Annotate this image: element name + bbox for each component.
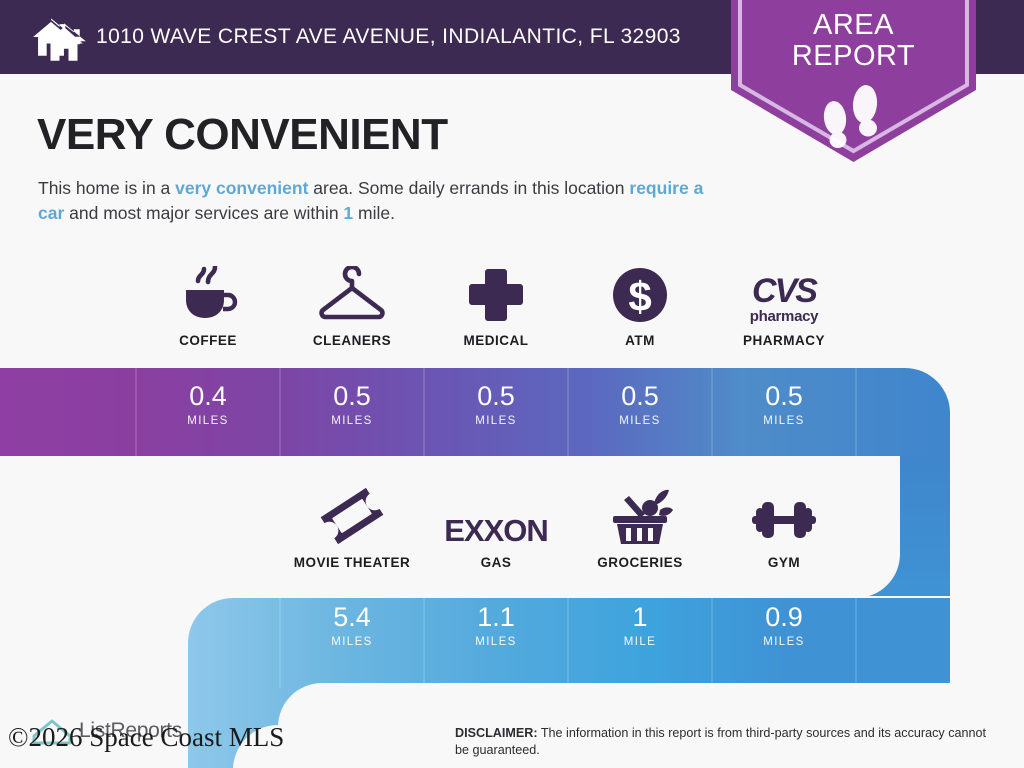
poi-coffee[interactable]: COFFEE [136, 262, 280, 348]
poi-groceries[interactable]: GROCERIES [568, 484, 712, 570]
disclaimer: DISCLAIMER: The information in this repo… [455, 725, 995, 759]
poi-gym[interactable]: GYM [712, 484, 856, 570]
subtitle-part-4: mile. [353, 203, 395, 223]
poi-pharmacy[interactable]: CVS pharmacy PHARMACY [712, 262, 856, 348]
exxon-wordmark: EXXON [444, 515, 548, 546]
poi-label: MOVIE THEATER [294, 555, 411, 570]
distance-value: 1 [568, 604, 712, 631]
poi-gas[interactable]: EXXON GAS [424, 484, 568, 570]
grocery-basket-icon [605, 484, 675, 546]
distance-unit: MILES [280, 636, 424, 648]
cvs-pharmacy-logo: CVS pharmacy [750, 262, 818, 324]
distance-unit: MILES [712, 415, 856, 427]
home-marker-icon [40, 18, 88, 66]
distance-groceries: 1 MILE [568, 604, 712, 648]
poi-label: PHARMACY [743, 333, 825, 348]
distance-unit: MILES [280, 415, 424, 427]
distance-unit: MILES [424, 636, 568, 648]
distance-unit: MILE [568, 636, 712, 648]
subtitle-part-2: area. Some daily errands in this locatio… [308, 178, 629, 198]
page-title: VERY CONVENIENT [37, 110, 448, 160]
cvs-subword: pharmacy [750, 309, 818, 324]
distance-movie-theater: 5.4 MILES [280, 604, 424, 648]
distance-cleaners: 0.5 MILES [280, 383, 424, 427]
poi-label: ATM [625, 333, 655, 348]
poi-atm[interactable]: $ ATM [568, 262, 712, 348]
disclaimer-label: DISCLAIMER: [455, 726, 538, 740]
subtitle-part-3: and most major services are within [64, 203, 343, 223]
property-address: 1010 WAVE CREST AVE AVENUE, INDIALANTIC,… [96, 25, 681, 49]
page-subtitle: This home is in a very convenient area. … [38, 176, 728, 227]
poi-label: CLEANERS [313, 333, 391, 348]
distance-value: 0.5 [280, 383, 424, 410]
badge-line-2: REPORT [792, 40, 915, 72]
svg-text:$: $ [628, 273, 651, 320]
poi-movie-theater[interactable]: MOVIE THEATER [280, 484, 424, 570]
exxon-logo: EXXON [444, 484, 548, 546]
poi-label: GYM [768, 555, 800, 570]
badge-label: AREA REPORT [731, 10, 976, 73]
distance-value: 0.5 [424, 383, 568, 410]
poi-label: MEDICAL [464, 333, 529, 348]
distance-value: 0.5 [712, 383, 856, 410]
distance-unit: MILES [424, 415, 568, 427]
distance-value: 1.1 [424, 604, 568, 631]
distance-gym: 0.9 MILES [712, 604, 856, 648]
badge-line-1: AREA [813, 9, 894, 41]
cvs-wordmark: CVS [750, 274, 818, 308]
distance-medical: 0.5 MILES [424, 383, 568, 427]
medical-cross-icon [466, 262, 526, 324]
poi-cleaners[interactable]: CLEANERS [280, 262, 424, 348]
area-report-infographic: 1010 WAVE CREST AVE AVENUE, INDIALANTIC,… [0, 0, 1024, 768]
distance-atm: 0.5 MILES [568, 383, 712, 427]
coffee-cup-icon [176, 262, 240, 324]
clothes-hanger-icon [313, 262, 391, 324]
subtitle-highlight-1: very convenient [175, 178, 308, 198]
distance-gas: 1.1 MILES [424, 604, 568, 648]
poi-label: GAS [481, 555, 512, 570]
distance-value: 0.4 [136, 383, 280, 410]
poi-medical[interactable]: MEDICAL [424, 262, 568, 348]
distance-unit: MILES [712, 636, 856, 648]
mls-watermark: ©2026 Space Coast MLS [8, 722, 284, 753]
dollar-circle-icon: $ [611, 262, 669, 324]
movie-ticket-icon [319, 484, 385, 546]
distance-pharmacy: 0.5 MILES [712, 383, 856, 427]
distance-unit: MILES [568, 415, 712, 427]
poi-label: GROCERIES [597, 555, 683, 570]
distance-coffee: 0.4 MILES [136, 383, 280, 427]
dumbbell-icon [748, 484, 820, 546]
subtitle-highlight-3: 1 [343, 203, 353, 223]
distance-value: 0.5 [568, 383, 712, 410]
distance-value: 0.9 [712, 604, 856, 631]
poi-label: COFFEE [179, 333, 237, 348]
area-report-badge: AREA REPORT [731, 0, 976, 162]
distance-value: 5.4 [280, 604, 424, 631]
subtitle-part-1: This home is in a [38, 178, 175, 198]
distance-unit: MILES [136, 415, 280, 427]
